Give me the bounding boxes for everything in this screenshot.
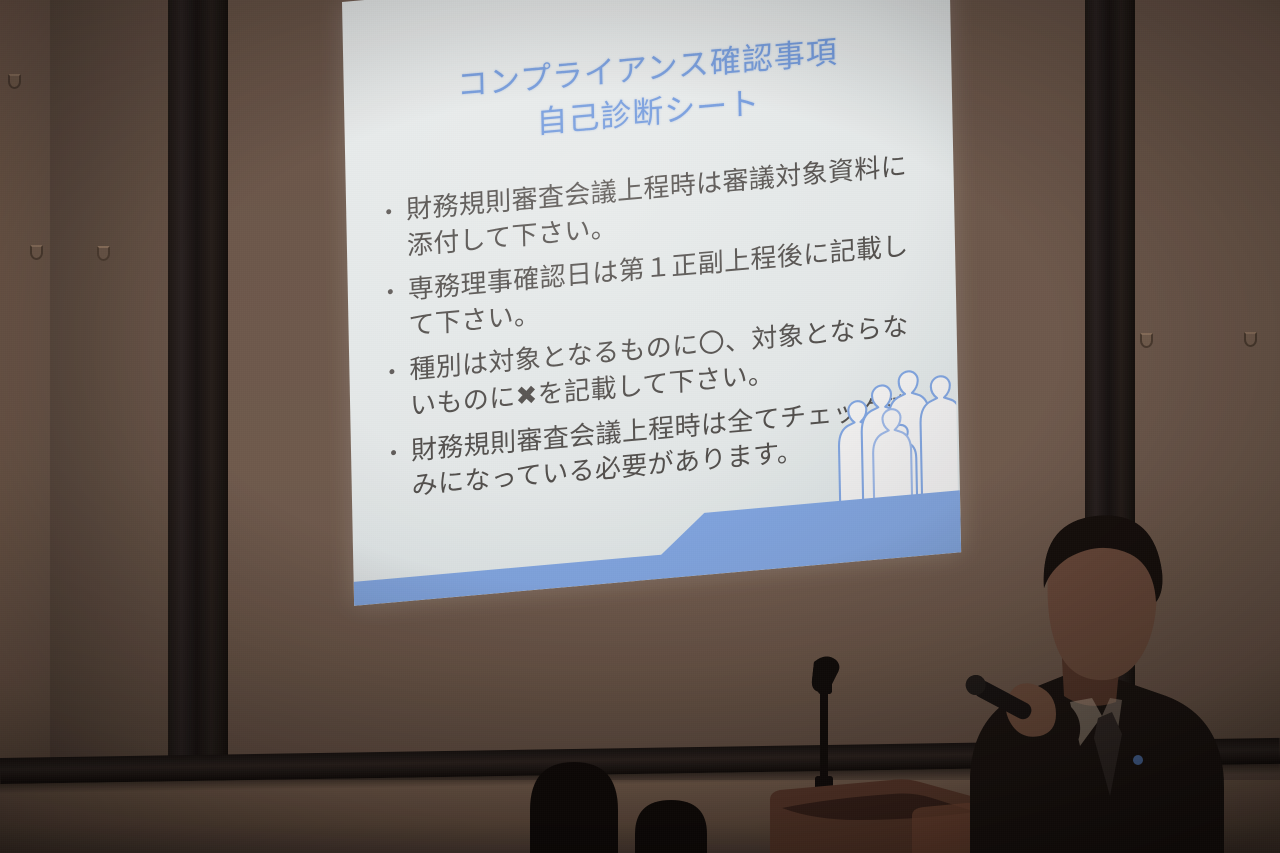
- presentation-photo-scene: コンプライアンス確認事項 自己診断シート 財務規則審査会議上程時は審議対象資料に…: [0, 0, 1280, 853]
- wall-pilaster-left: [0, 0, 50, 853]
- bullet-dot-icon: [389, 369, 394, 374]
- presenter-foreground: [952, 470, 1280, 853]
- projection-screen: コンプライアンス確認事項 自己診断シート 財務規則審査会議上程時は審議対象資料に…: [342, 0, 961, 606]
- wall-hook-5: [1244, 332, 1257, 347]
- wall-hook-4: [1140, 333, 1153, 348]
- bullet-dot-icon: [388, 289, 393, 294]
- slide-surface: コンプライアンス確認事項 自己診断シート 財務規則審査会議上程時は審議対象資料に…: [342, 0, 961, 606]
- wall-hook-2: [30, 245, 43, 260]
- wall-hook-1: [8, 74, 21, 89]
- wall-panel-left: [50, 0, 182, 780]
- bullet-dot-icon: [391, 450, 396, 455]
- wall-hook-3: [97, 246, 110, 261]
- slide-title: コンプライアンス確認事項 自己診断シート: [343, 20, 952, 162]
- bullet-dot-icon: [386, 209, 391, 214]
- curtain-left: [168, 0, 228, 770]
